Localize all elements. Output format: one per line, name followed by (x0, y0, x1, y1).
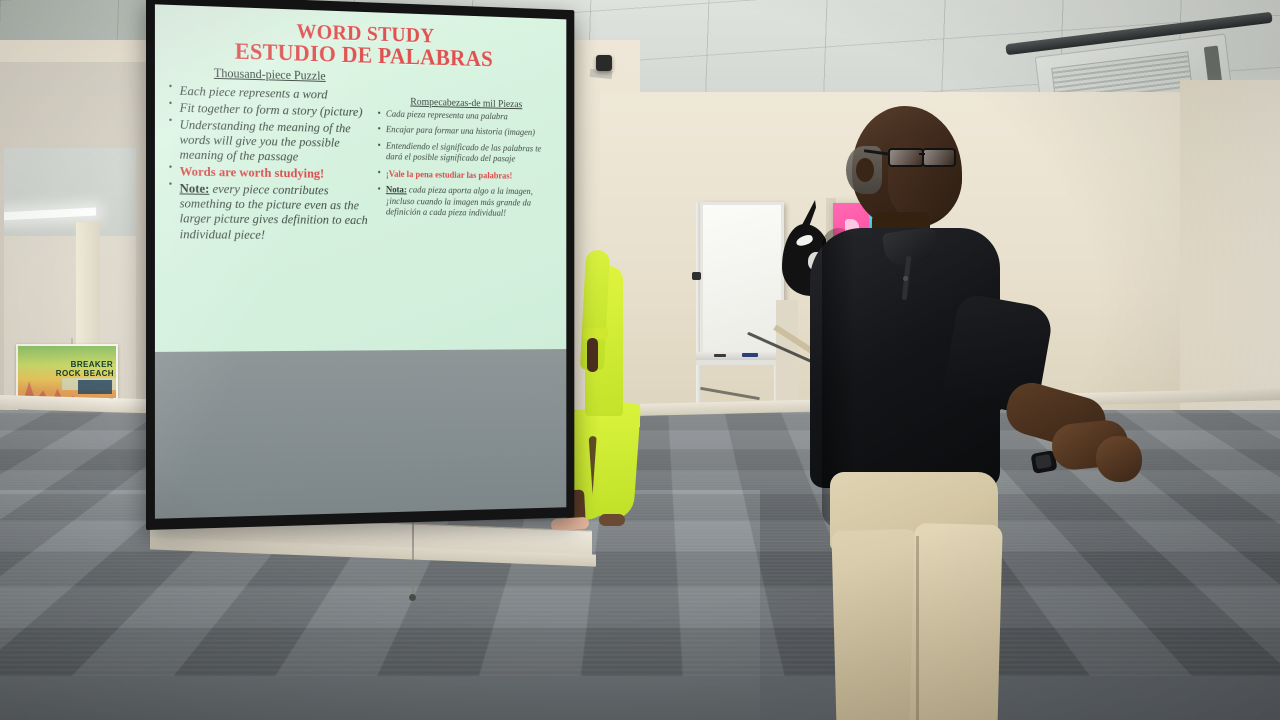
slide-title: WORD STUDY ESTUDIO DE PALABRAS (169, 17, 554, 73)
left-note-label: Note: (180, 181, 210, 196)
watch-face (1035, 454, 1052, 469)
slide-right-column: Rompecabezas-de mil Piezas Cada pieza re… (374, 70, 554, 245)
presenter-face (888, 134, 962, 220)
classroom-scene: BREAKER ROCK BEACH (0, 0, 1280, 720)
right-bullet-1: Cada pieza representa una palabra (377, 109, 553, 124)
right-note-label: Nota: (386, 186, 407, 196)
presenter-ear (856, 158, 874, 182)
glasses-lens-left (888, 148, 924, 167)
trouser-seam (916, 536, 919, 720)
screen-pull-cord[interactable] (412, 510, 414, 598)
left-highlight-text: Words are worth studying! (180, 164, 325, 181)
presenter-trouser-right (909, 523, 1002, 720)
left-bullet-3: Understanding the meaning of the words w… (169, 117, 369, 165)
poster-title-line1: BREAKER (71, 360, 113, 369)
projection-screen: WORD STUDY ESTUDIO DE PALABRAS Thousand-… (146, 0, 574, 530)
lime-trouser-right (591, 401, 641, 522)
eyeglasses-icon (888, 148, 960, 164)
corridor-ceiling (4, 148, 136, 236)
whiteboard-height-knob[interactable] (692, 272, 701, 280)
right-highlight-text: ¡Vale la pena estudiar las palabras! (386, 169, 512, 181)
presenter-hand (1096, 436, 1142, 482)
lime-forearm (587, 338, 598, 372)
lime-cuff (583, 328, 608, 339)
right-highlight: ¡Vale la pena estudiar las palabras! (377, 169, 553, 184)
right-subtitle: Rompecabezas-de mil Piezas (377, 96, 553, 111)
presenter (800, 100, 1130, 720)
poster-title-line2: ROCK BEACH (56, 369, 114, 378)
glasses-bridge (919, 153, 925, 155)
whiteboard-crossbar (696, 360, 780, 365)
right-note-text: cada pieza aporta algo a la imagen, ¡inc… (386, 186, 533, 219)
projector-mount-icon (596, 55, 612, 71)
right-bullet-3: Entendiendo el significado de las palabr… (377, 141, 553, 166)
screen-unlit-area (155, 349, 566, 519)
slide-left-column: Thousand-piece Puzzle Each piece represe… (169, 65, 374, 245)
glasses-lens-right (922, 148, 956, 167)
right-bullet-2: Encajar para formar una historia (imagen… (377, 125, 553, 140)
poster-text-block (78, 380, 112, 394)
whiteboard-marker[interactable] (714, 354, 726, 357)
left-note: Note: every piece contributes something … (169, 181, 369, 243)
left-highlight: Words are worth studying! (169, 164, 369, 182)
right-note: Nota: cada pieza aporta algo a la imagen… (377, 186, 553, 221)
polo-button (903, 276, 908, 281)
whiteboard-marker[interactable] (742, 353, 758, 357)
presenter-trouser-left (831, 529, 922, 720)
projected-slide: WORD STUDY ESTUDIO DE PALABRAS Thousand-… (155, 4, 566, 351)
right-wall (1180, 80, 1280, 440)
screen-surface: WORD STUDY ESTUDIO DE PALABRAS Thousand-… (155, 4, 566, 518)
left-bullet-2: Fit together to form a story (picture) (169, 99, 369, 119)
lime-foot (599, 514, 625, 526)
screen-cord-weight (409, 594, 416, 601)
left-subtitle: Thousand-piece Puzzle (169, 65, 369, 85)
